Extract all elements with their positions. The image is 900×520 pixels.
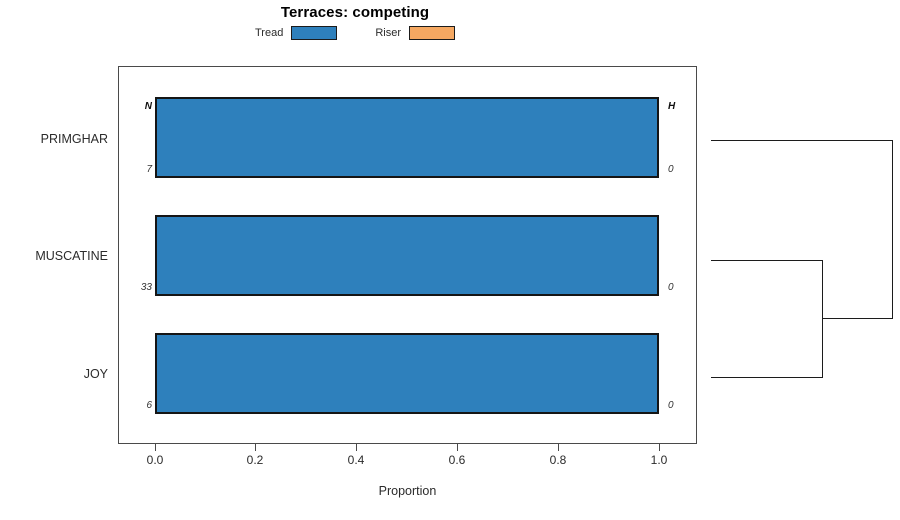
category-label-muscatine: MUSCATINE [4,249,108,263]
bar-tread-joy[interactable] [155,333,659,414]
bar-tread-muscatine[interactable] [155,215,659,296]
dendrogram [705,66,900,444]
xtick-1 [255,444,256,451]
chart-legend: Tread Riser [0,26,710,40]
category-label-joy: JOY [4,367,108,381]
xticklabel-4: 0.8 [533,453,583,467]
category-label-primghar: PRIMGHAR [4,132,108,146]
dendro-merge-arm-inner [822,318,893,319]
annotation-h-joy: 0 [668,400,694,411]
xaxis-title: Proportion [118,484,697,498]
annotation-n-muscatine: 33 [126,282,152,293]
annotation-h-primghar: 0 [668,164,694,175]
legend-swatch-riser [409,26,455,40]
xtick-4 [558,444,559,451]
chart-title: Terraces: competing [0,4,710,21]
bar-tread-primghar[interactable] [155,97,659,178]
dendro-leaf-muscatine [711,260,822,261]
annotation-h-muscatine: 0 [668,282,694,293]
legend-label-riser: Riser [375,27,401,39]
dendro-leaf-primghar [711,140,893,141]
xtick-2 [356,444,357,451]
xticklabel-1: 0.2 [230,453,280,467]
legend-label-tread: Tread [255,27,283,39]
xtick-5 [659,444,660,451]
plot-panel [118,66,697,444]
xtick-3 [457,444,458,451]
legend-item-tread[interactable]: Tread [255,26,337,40]
annotation-header-h: H [668,101,694,112]
legend-swatch-tread [291,26,337,40]
xtick-0 [155,444,156,451]
xticklabel-0: 0.0 [130,453,180,467]
dendro-merge-root [892,140,893,319]
legend-item-riser[interactable]: Riser [375,26,455,40]
annotation-n-primghar: 7 [126,164,152,175]
annotation-n-joy: 6 [126,400,152,411]
dendro-leaf-joy [711,377,822,378]
annotation-header-n: N [126,101,152,112]
xticklabel-3: 0.6 [432,453,482,467]
xticklabel-2: 0.4 [331,453,381,467]
xticklabel-5: 1.0 [634,453,684,467]
